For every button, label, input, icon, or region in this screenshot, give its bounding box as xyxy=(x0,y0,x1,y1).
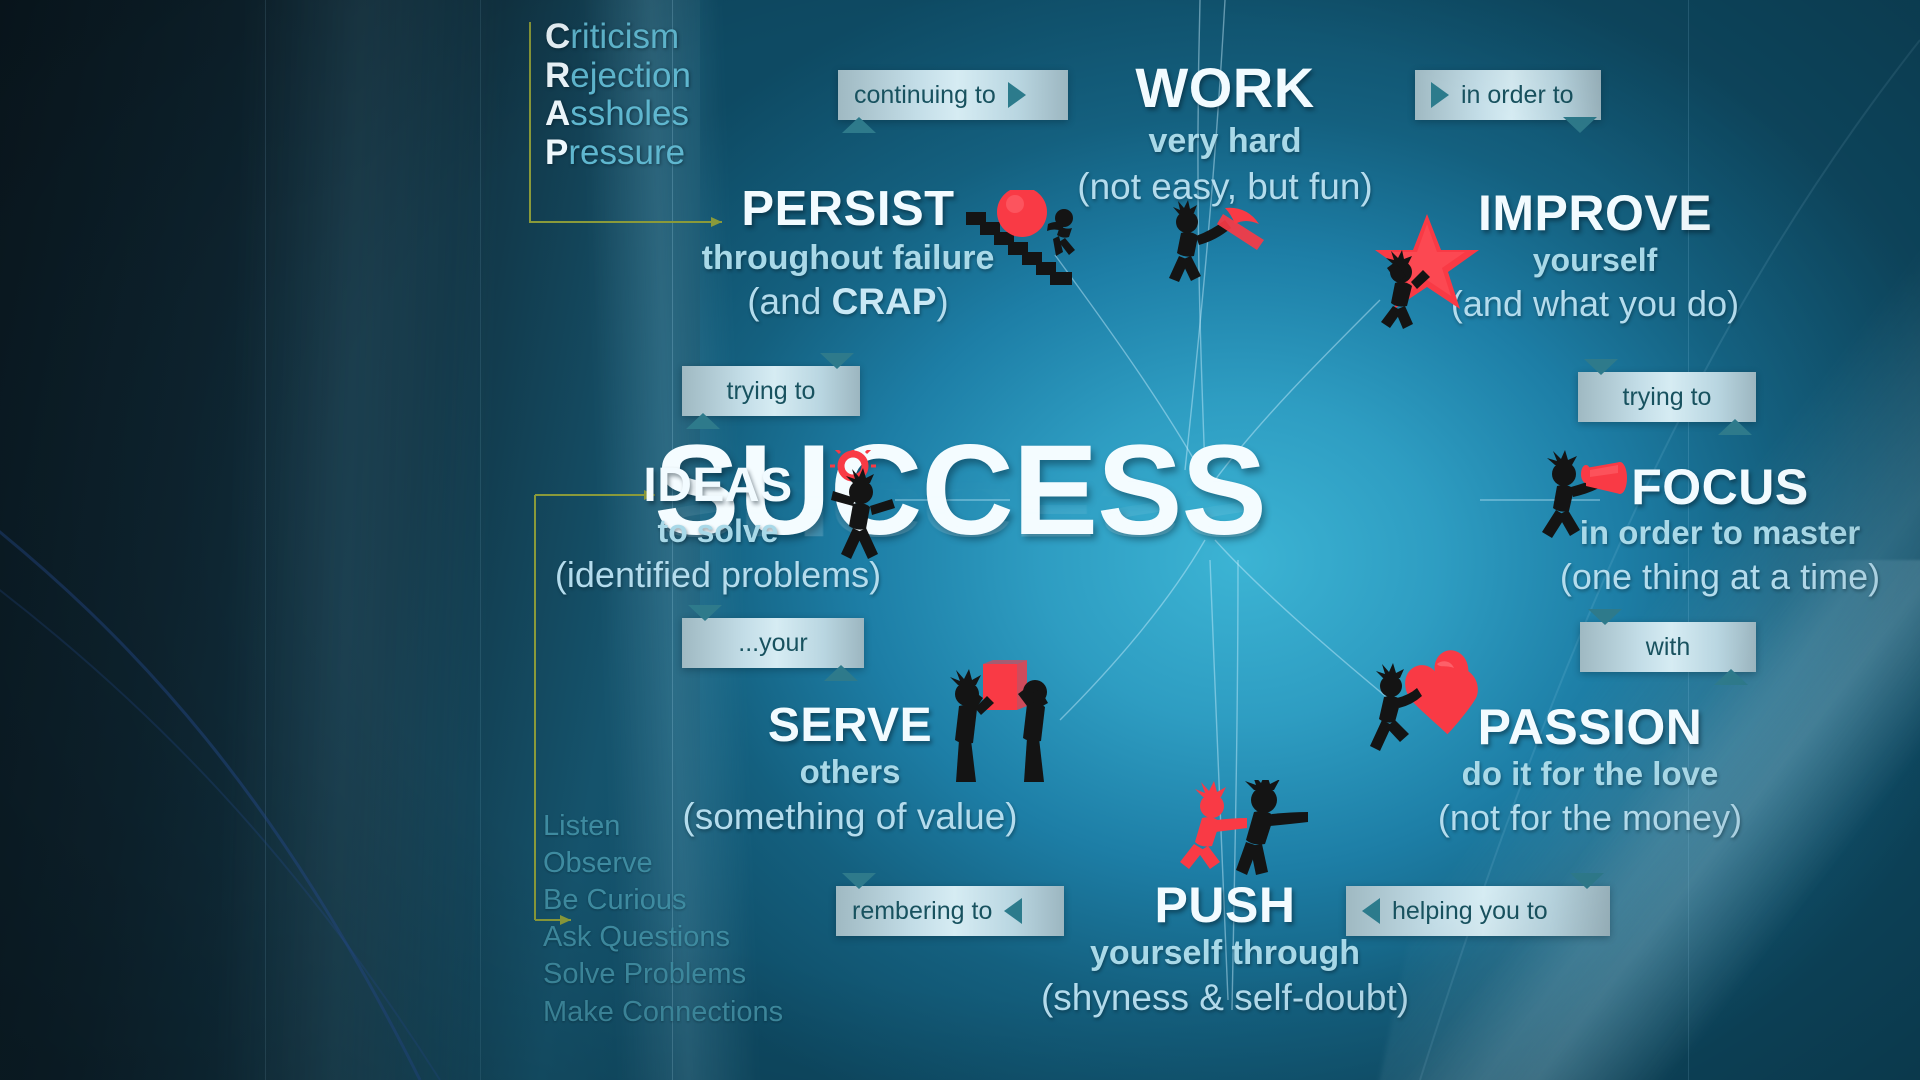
infographic-canvas: Criticism Rejection Assholes Pressure Li… xyxy=(0,0,1920,1080)
vignette-overlay xyxy=(0,0,1920,1080)
